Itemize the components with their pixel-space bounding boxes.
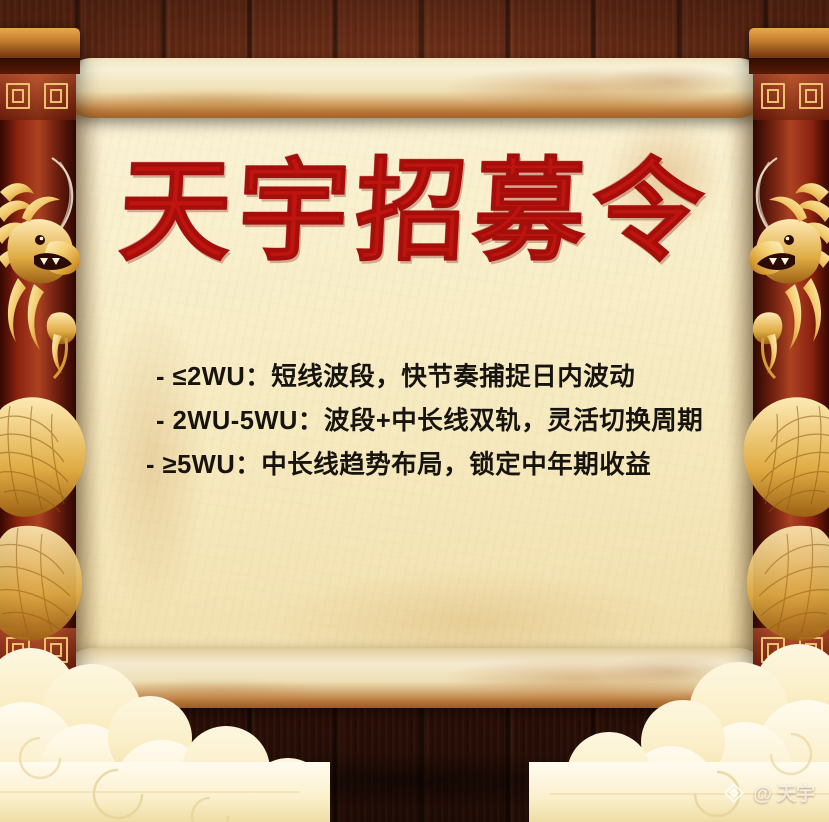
watermark-handle: @ 天宇 [753, 779, 815, 806]
watermark: @ 天宇 [722, 779, 815, 806]
gold-dragon-pillar-icon [743, 138, 829, 658]
page-title: 天宇招募令 [0, 152, 829, 273]
tier-list: - ≤2WU：短线波段，快节奏捕捉日内波动 - 2WU-5WU：波段+中长线双轨… [68, 355, 761, 487]
scroll-rod-top-stain [62, 58, 768, 118]
pillar-cap-top-left [0, 28, 80, 62]
meander-square [44, 83, 68, 109]
pillar-band-left [0, 58, 80, 74]
pillar-band-right [749, 58, 829, 74]
scroll-rod-bottom-stain [62, 648, 768, 708]
scroll-rod-bottom [62, 648, 768, 708]
greek-key-pattern-icon [0, 74, 76, 120]
diamond-logo-icon [722, 781, 746, 805]
tier-line-3: - ≥5WU：中长线趋势布局，锁定中年期收益 [68, 443, 761, 487]
meander-square [761, 83, 785, 109]
meander-square [799, 83, 823, 109]
greek-key-pattern-icon [753, 74, 829, 120]
tier-line-2: - 2WU-5WU：波段+中长线双轨，灵活切换周期 [68, 399, 761, 443]
meander-square [6, 83, 30, 109]
scroll-rod-top [62, 58, 768, 118]
poster-canvas: 天宇招募令 - ≤2WU：短线波段，快节奏捕捉日内波动 - 2WU-5WU：波段… [0, 0, 829, 822]
left-dragon-pillar [0, 30, 76, 718]
gold-dragon-pillar-icon [0, 138, 86, 658]
pillar-cap-top-right [749, 28, 829, 62]
right-dragon-pillar [753, 30, 829, 718]
tier-line-1: - ≤2WU：短线波段，快节奏捕捉日内波动 [68, 355, 761, 399]
